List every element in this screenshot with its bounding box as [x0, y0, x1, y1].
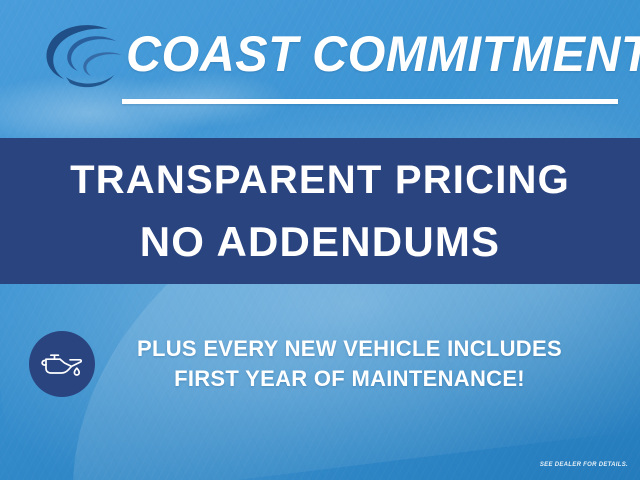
header-divider [122, 99, 618, 104]
maintenance-promo-text: PLUS EVERY NEW VEHICLE INCLUDES FIRST YE… [95, 334, 640, 394]
coast-wave-logo-icon [36, 19, 128, 93]
banner-header: COAST COMMITMENT [0, 0, 640, 138]
coast-commitment-banner: COAST COMMITMENT TRANSPARENT PRICING NO … [0, 0, 640, 480]
promo-line-1: PLUS EVERY NEW VEHICLE INCLUDES [95, 334, 604, 364]
pricing-headline-line-2: NO ADDENDUMS [140, 211, 501, 273]
page-title: COAST COMMITMENT [126, 23, 611, 85]
promo-line-2: FIRST YEAR OF MAINTENANCE! [95, 364, 604, 394]
oil-can-icon [29, 331, 95, 397]
disclaimer-text: SEE DEALER FOR DETAILS. [540, 462, 628, 468]
maintenance-promo: PLUS EVERY NEW VEHICLE INCLUDES FIRST YE… [0, 320, 640, 408]
pricing-headline-line-1: TRANSPARENT PRICING [70, 149, 570, 211]
pricing-band: TRANSPARENT PRICING NO ADDENDUMS [0, 138, 640, 284]
